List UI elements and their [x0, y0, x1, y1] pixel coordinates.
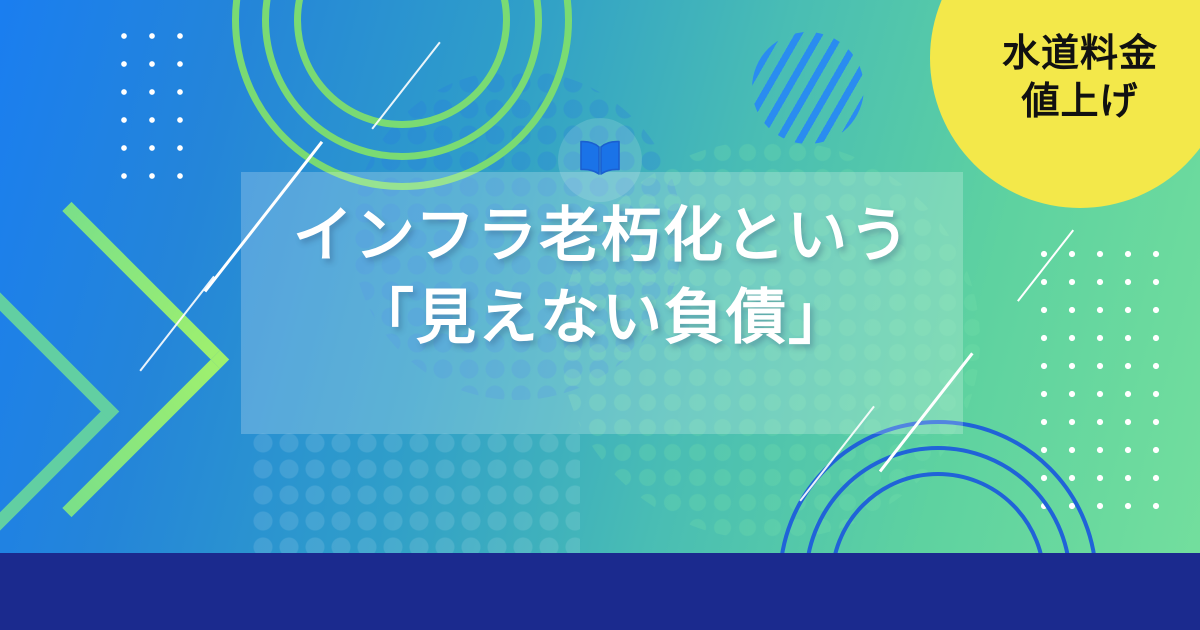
- book-icon-backdrop: [558, 118, 642, 202]
- page-title: インフラ老朽化という 「見えない負債」: [241, 196, 963, 359]
- badge-label: 水道料金 値上げ: [955, 30, 1200, 125]
- dot-grid-top-left: [110, 22, 196, 188]
- striped-circle-icon: [752, 32, 864, 144]
- page-title-line-2: 「見えない負債」: [241, 278, 963, 360]
- badge-label-line-2: 値上げ: [955, 78, 1200, 126]
- page-title-line-1: インフラ老朽化という: [241, 196, 963, 278]
- bottom-bar: [0, 553, 1200, 630]
- thumbnail-canvas: 水道料金 値上げ インフラ老朽化という 「見えない負債」: [0, 0, 1200, 630]
- concentric-rings-green: [232, 0, 572, 190]
- badge-label-line-1: 水道料金: [955, 30, 1200, 78]
- open-book-icon: [577, 139, 623, 181]
